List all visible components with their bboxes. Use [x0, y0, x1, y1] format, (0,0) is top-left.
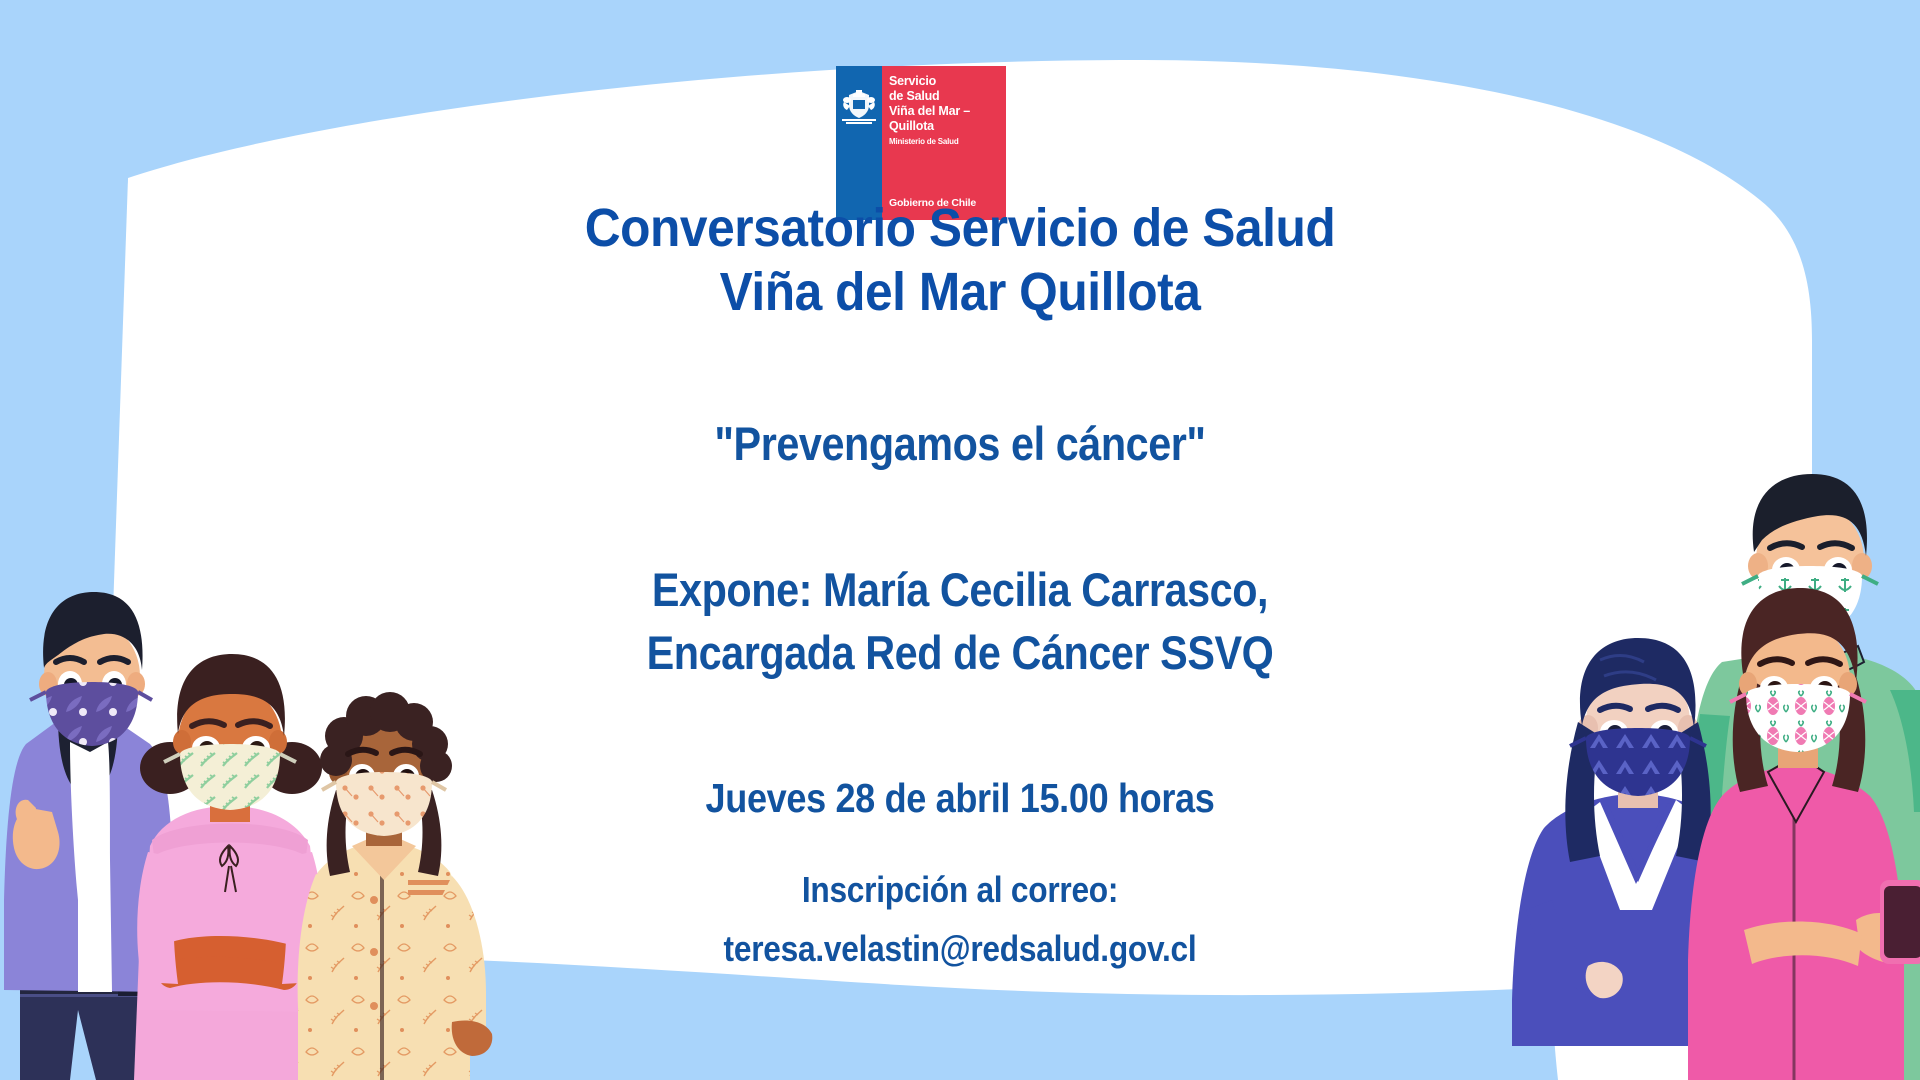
logo-line-4: Quillota: [889, 119, 934, 133]
poster-canvas: Servicio de Salud Viña del Mar – Quillot…: [0, 0, 1920, 1080]
logo-blue-panel: [836, 66, 882, 220]
speaker-line-2: Encargada Red de Cáncer SSVQ: [115, 625, 1805, 680]
page-title-line-2: Viña del Mar Quillota: [77, 262, 1843, 322]
speaker-line-1: Expone: María Cecilia Carrasco,: [115, 562, 1805, 617]
servicio-de-salud-logo: Servicio de Salud Viña del Mar – Quillot…: [836, 66, 1006, 220]
registration-email[interactable]: teresa.velastin@redsalud.gov.cl: [115, 928, 1805, 970]
logo-ministry-label: Ministerio de Salud: [889, 137, 959, 146]
logo-red-panel: Servicio de Salud Viña del Mar – Quillot…: [882, 66, 1006, 220]
coat-of-arms-icon: [840, 88, 878, 128]
logo-line-2: de Salud: [889, 89, 940, 103]
event-datetime: Jueves 28 de abril 15.00 horas: [115, 775, 1805, 822]
page-title-line-1: Conversatorio Servicio de Salud: [77, 198, 1843, 258]
registration-label: Inscripción al correo:: [115, 869, 1805, 911]
event-subtitle: "Prevengamos el cáncer": [115, 416, 1805, 471]
logo-line-3: Viña del Mar –: [889, 104, 970, 118]
logo-line-1: Servicio: [889, 74, 936, 88]
